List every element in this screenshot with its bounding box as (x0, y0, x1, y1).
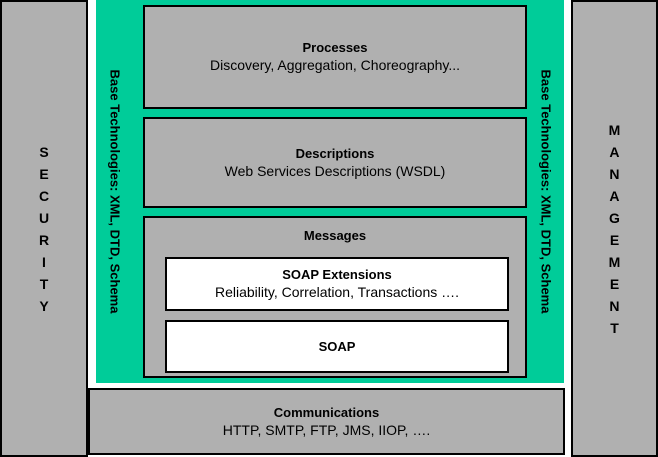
box-soap: SOAP (165, 320, 509, 373)
management-letter: A (609, 185, 621, 207)
base-technologies-label-right: Base Technologies: XML, DTD, Schema (538, 70, 553, 314)
security-letter: C (39, 185, 49, 207)
management-letter: N (609, 163, 621, 185)
security-letter: R (39, 229, 49, 251)
management-letter: E (609, 273, 621, 295)
security-letter: U (39, 207, 49, 229)
security-letter: Y (39, 295, 49, 317)
base-technologies-bar-left: Base Technologies: XML, DTD, Schema (96, 0, 133, 383)
layer-processes: Processes Discovery, Aggregation, Choreo… (143, 5, 527, 109)
security-pillar-label: S E C U R I T Y (39, 141, 49, 317)
box-soap-extensions-subtitle: Reliability, Correlation, Transactions …… (215, 283, 459, 301)
management-letter: M (609, 119, 621, 141)
management-letter: M (609, 251, 621, 273)
management-pillar-label: M A N A G E M E N T (609, 119, 621, 339)
management-letter: A (609, 141, 621, 163)
diagram-canvas: S E C U R I T Y M A N A G E M E N T Base… (0, 0, 658, 457)
security-letter: I (39, 251, 49, 273)
box-soap-title: SOAP (319, 339, 356, 355)
management-letter: E (609, 229, 621, 251)
box-soap-extensions: SOAP Extensions Reliability, Correlation… (165, 257, 509, 311)
base-technologies-label-left: Base Technologies: XML, DTD, Schema (107, 70, 122, 314)
management-letter: N (609, 295, 621, 317)
layer-communications: Communications HTTP, SMTP, FTP, JMS, IIO… (88, 388, 565, 455)
layer-processes-subtitle: Discovery, Aggregation, Choreography... (210, 56, 460, 74)
management-pillar: M A N A G E M E N T (571, 0, 658, 457)
layer-messages-title: Messages (145, 218, 525, 244)
layer-descriptions: Descriptions Web Services Descriptions (… (143, 117, 527, 208)
layer-communications-subtitle: HTTP, SMTP, FTP, JMS, IIOP, …. (223, 421, 430, 439)
management-letter: G (609, 207, 621, 229)
layer-messages: Messages SOAP Extensions Reliability, Co… (143, 216, 527, 378)
security-letter: E (39, 163, 49, 185)
security-pillar: S E C U R I T Y (0, 0, 88, 457)
management-letter: T (609, 317, 621, 339)
box-soap-extensions-title: SOAP Extensions (282, 267, 392, 283)
layer-processes-title: Processes (302, 40, 367, 56)
security-letter: S (39, 141, 49, 163)
security-letter: T (39, 273, 49, 295)
layer-communications-title: Communications (274, 405, 379, 421)
layer-descriptions-title: Descriptions (296, 146, 375, 162)
layer-descriptions-subtitle: Web Services Descriptions (WSDL) (225, 162, 446, 180)
base-technologies-bar-right: Base Technologies: XML, DTD, Schema (527, 0, 564, 383)
